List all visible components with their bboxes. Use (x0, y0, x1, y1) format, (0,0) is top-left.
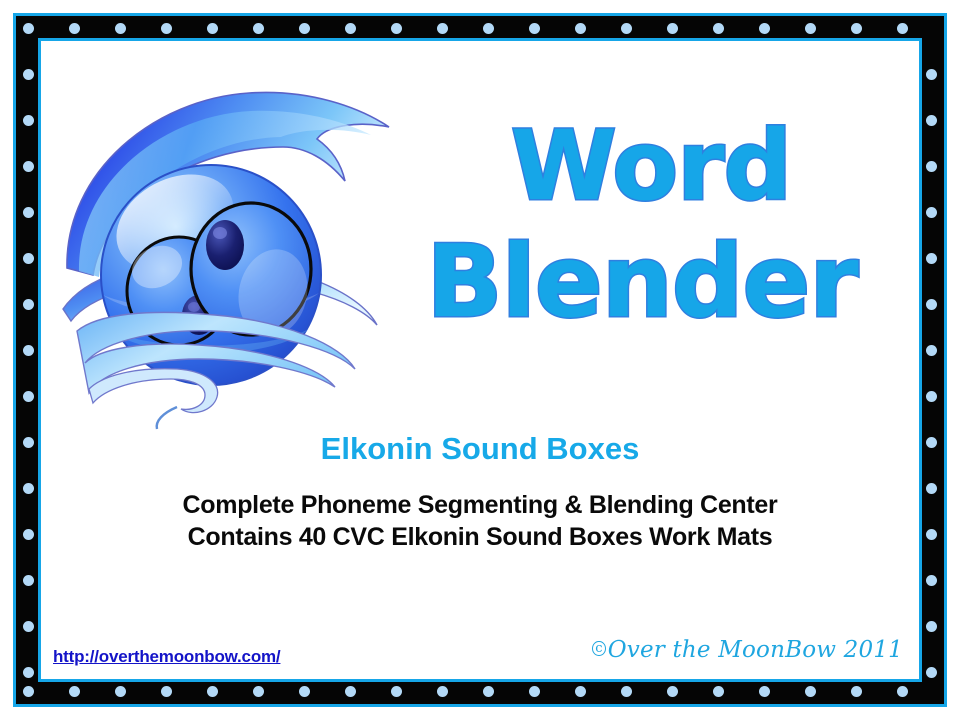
polka-dot (483, 23, 494, 34)
polka-dot (23, 161, 34, 172)
polka-dot (667, 23, 678, 34)
polka-dot (207, 686, 218, 697)
polka-dot (759, 686, 770, 697)
polka-dot (207, 23, 218, 34)
website-url-link[interactable]: http://overthemoonbow.com/ (53, 647, 280, 667)
polka-dot (926, 667, 937, 678)
polka-dot (23, 621, 34, 632)
polka-dot (713, 686, 724, 697)
polka-dot (575, 23, 586, 34)
copyright-text: Over the MoonBow 2011 (608, 637, 903, 663)
title-line-blender: Blender (353, 233, 922, 331)
copyright-notice: cOver the MoonBow 2011 (592, 637, 903, 663)
polka-dot (161, 686, 172, 697)
polka-dot (23, 667, 34, 678)
polka-dot (926, 161, 937, 172)
polka-dot (391, 686, 402, 697)
polka-dot (713, 23, 724, 34)
polka-dot (805, 23, 816, 34)
title-line-word: Word (371, 119, 922, 213)
polka-dot (437, 23, 448, 34)
polka-dot (621, 23, 632, 34)
polka-dot (299, 686, 310, 697)
page-title: Word Blender (371, 119, 922, 331)
polka-dot (851, 686, 862, 697)
polka-dot (23, 437, 34, 448)
subtitle-description-line-1: Complete Phoneme Segmenting & Blending C… (41, 489, 919, 521)
polka-dot (926, 115, 937, 126)
cover-page: Word Blender Elkonin Sound Boxes Complet… (0, 0, 960, 720)
polka-dot (23, 299, 34, 310)
subtitle-block: Elkonin Sound Boxes Complete Phoneme Seg… (41, 431, 919, 553)
polka-dot (23, 345, 34, 356)
polka-dot (621, 686, 632, 697)
polka-dot (23, 23, 34, 34)
polka-dot (253, 23, 264, 34)
polka-dot (69, 686, 80, 697)
polka-dot (23, 391, 34, 402)
polka-dot (926, 391, 937, 402)
polka-dot (926, 253, 937, 264)
polka-dot (926, 529, 937, 540)
copyright-symbol-icon: c (592, 641, 605, 656)
polka-dot (759, 23, 770, 34)
polka-dot (23, 529, 34, 540)
polka-dot (23, 69, 34, 80)
polka-dot (115, 686, 126, 697)
polka-dot (575, 686, 586, 697)
polka-dot (483, 686, 494, 697)
polka-dot (529, 23, 540, 34)
polka-dot (926, 345, 937, 356)
polka-dot (115, 23, 126, 34)
polka-dot (23, 483, 34, 494)
polka-dot (926, 299, 937, 310)
polka-dot (529, 686, 540, 697)
polka-dot (851, 23, 862, 34)
polka-dot (926, 483, 937, 494)
subtitle-description-line-2: Contains 40 CVC Elkonin Sound Boxes Work… (41, 521, 919, 553)
polka-dot (345, 23, 356, 34)
polka-dot (23, 115, 34, 126)
polka-dot (69, 23, 80, 34)
polka-dot (23, 253, 34, 264)
polka-dot (23, 207, 34, 218)
polka-dot (437, 686, 448, 697)
polka-dot (926, 437, 937, 448)
polka-dot (299, 23, 310, 34)
polka-dot (926, 207, 937, 218)
polka-dot (926, 621, 937, 632)
polka-dot (926, 575, 937, 586)
mascot-blue-sphere-icon (59, 63, 399, 433)
polka-dot (667, 686, 678, 697)
polka-dot (391, 23, 402, 34)
polka-dot (926, 69, 937, 80)
polka-dot (897, 23, 908, 34)
polka-dot (897, 686, 908, 697)
polka-dot (345, 686, 356, 697)
polka-dot (253, 686, 264, 697)
polka-dot (23, 686, 34, 697)
polka-dot (161, 23, 172, 34)
subtitle-headline: Elkonin Sound Boxes (41, 431, 919, 467)
content-panel: Word Blender Elkonin Sound Boxes Complet… (38, 38, 922, 682)
polka-dot (23, 575, 34, 586)
polka-dot (805, 686, 816, 697)
